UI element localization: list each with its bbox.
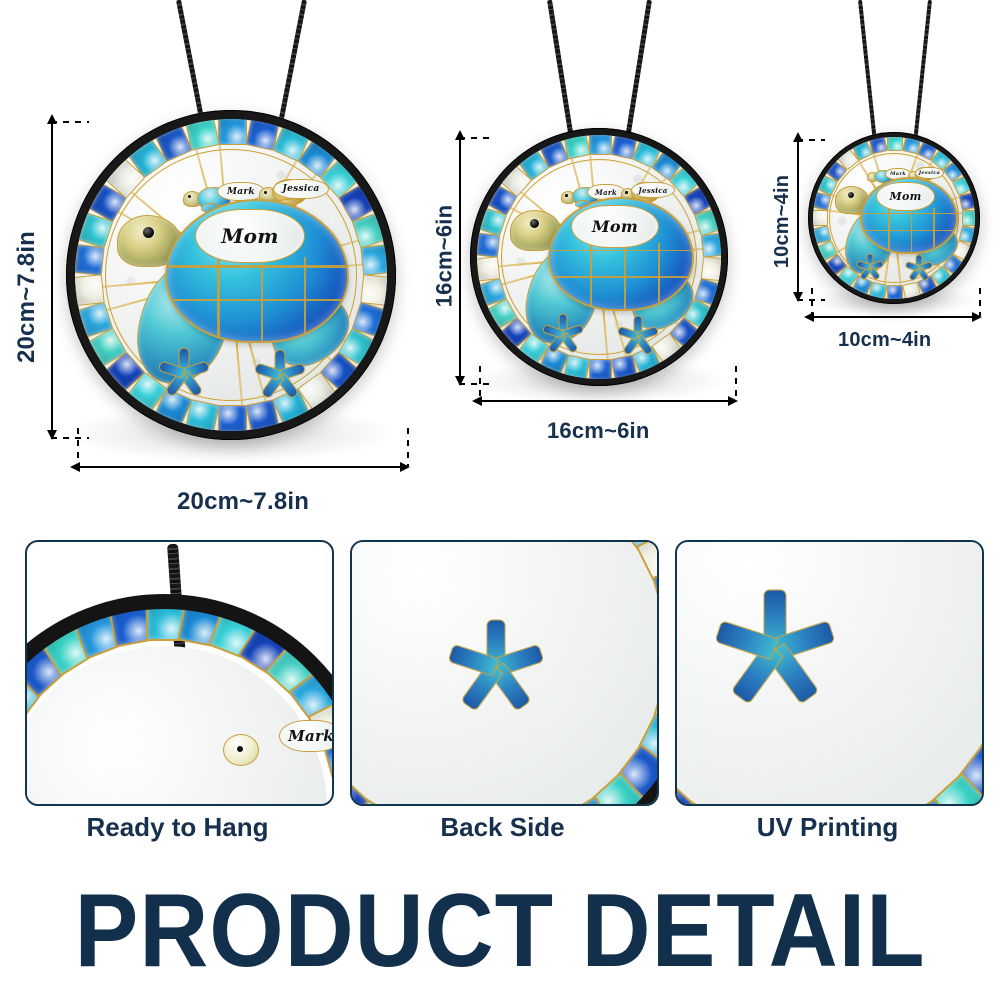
extension-line — [797, 139, 825, 141]
extension-line — [407, 428, 409, 466]
dimension-label-height-medium: 16cm~6in — [431, 205, 457, 308]
panel-artwork — [677, 542, 982, 804]
hanging-chain-icon — [913, 0, 932, 139]
mom-name-badge: Mom — [876, 182, 935, 211]
mosaic-tile — [589, 135, 612, 155]
dimension-label-height-large: 20cm~7.8in — [13, 231, 41, 363]
starfish-icon — [619, 317, 656, 354]
sea-turtle-icon: Mom — [103, 191, 363, 391]
mosaic-tile — [962, 210, 975, 226]
dimension-label-width-large: 20cm~7.8in — [177, 488, 309, 516]
mosaic-tile — [589, 359, 612, 379]
mosaic-tile — [75, 244, 104, 276]
starfish-icon — [257, 351, 303, 397]
starfish-icon — [857, 253, 883, 279]
extension-line — [811, 288, 813, 316]
extension-line — [77, 428, 79, 466]
extension-line — [459, 137, 491, 139]
hanging-chain-icon — [547, 0, 574, 139]
extension-line — [459, 383, 491, 385]
dimension-label-width-small: 10cm~4in — [838, 329, 931, 352]
dimension-line-vertical-medium — [459, 138, 461, 384]
starfish-icon — [907, 255, 931, 279]
extension-line — [735, 366, 737, 400]
starfish-icon — [715, 588, 835, 708]
suncatcher-large[interactable]: Mark Jessica — [66, 110, 396, 440]
turtle-eye — [848, 192, 854, 198]
suncatcher-medium[interactable]: Mark Jessica — [470, 128, 728, 386]
extension-line — [479, 366, 481, 400]
mosaic-tile — [563, 135, 590, 160]
panel-caption-uv-printing: UV Printing — [675, 812, 980, 843]
starfish-icon — [543, 313, 583, 353]
mosaic-tile — [887, 137, 903, 151]
mom-name-label: Mom — [221, 224, 279, 248]
dimension-label-height-small: 10cm~4in — [771, 175, 794, 268]
turtle-eye — [143, 227, 154, 238]
extension-line — [979, 288, 981, 316]
mosaic-tile — [185, 119, 219, 151]
mosaic-tile — [360, 244, 387, 276]
extension-line — [51, 437, 89, 439]
extension-line — [51, 121, 89, 123]
mosaic-tile — [331, 805, 334, 806]
mosaic-tile — [218, 119, 247, 145]
hanging-chain-icon — [276, 0, 307, 133]
page-title: PRODUCT DETAIL — [40, 872, 960, 991]
mosaic-tile — [813, 210, 828, 226]
mosaic-tile — [887, 285, 903, 299]
product-detail-canvas: Mark Jessica — [0, 0, 1000, 1000]
sea-turtle-icon: Mom — [828, 173, 963, 277]
inset-name-label: Mark — [288, 727, 334, 745]
dimension-label-width-medium: 16cm~6in — [547, 418, 650, 444]
mom-name-badge: Mom — [571, 205, 659, 248]
feature-panel-back-side[interactable] — [350, 540, 659, 806]
mosaic-tile — [218, 405, 247, 431]
mosaic-tile — [75, 274, 104, 306]
panel-caption-back-side: Back Side — [350, 812, 655, 843]
mosaic-tile — [902, 282, 921, 299]
mosaic-tile — [477, 233, 500, 258]
starfish-icon — [448, 618, 544, 714]
panel-caption-ready-to-hang: Ready to Hang — [25, 812, 330, 843]
dimension-line-vertical-small — [797, 140, 799, 300]
mosaic-tile — [245, 399, 279, 431]
turtle-eye — [530, 219, 539, 228]
feature-panel-ready-to-hang[interactable]: Mark — [25, 540, 334, 806]
suncatcher-edge-closeup — [25, 594, 334, 806]
dimension-line-horizontal-large — [78, 466, 408, 468]
mosaic-tile — [610, 354, 637, 379]
hanging-chain-icon — [625, 0, 652, 139]
suncatcher-small[interactable]: Mark Jessica — [808, 132, 980, 304]
panel-artwork: Mark — [27, 542, 332, 804]
dimension-line-horizontal-medium — [480, 400, 736, 402]
feature-panel-uv-printing[interactable] — [675, 540, 984, 806]
mom-name-label: Mom — [889, 190, 921, 203]
starfish-icon — [159, 347, 209, 397]
mom-name-badge: Mom — [195, 209, 305, 263]
mom-name-label: Mom — [592, 217, 638, 236]
dimension-line-vertical-large — [51, 122, 53, 438]
inset-name-badge: Mark — [279, 720, 334, 752]
mosaic-tile — [477, 256, 500, 281]
mosaic-tile — [869, 137, 888, 154]
mosaic-tile — [360, 274, 387, 306]
hanging-chain-icon — [858, 0, 877, 139]
panel-artwork — [352, 542, 657, 804]
sea-turtle-icon: Mom — [499, 191, 703, 349]
mosaic-tile — [700, 233, 721, 258]
dimension-line-horizontal-small — [812, 316, 980, 318]
baby-turtle-closeup — [223, 728, 283, 768]
